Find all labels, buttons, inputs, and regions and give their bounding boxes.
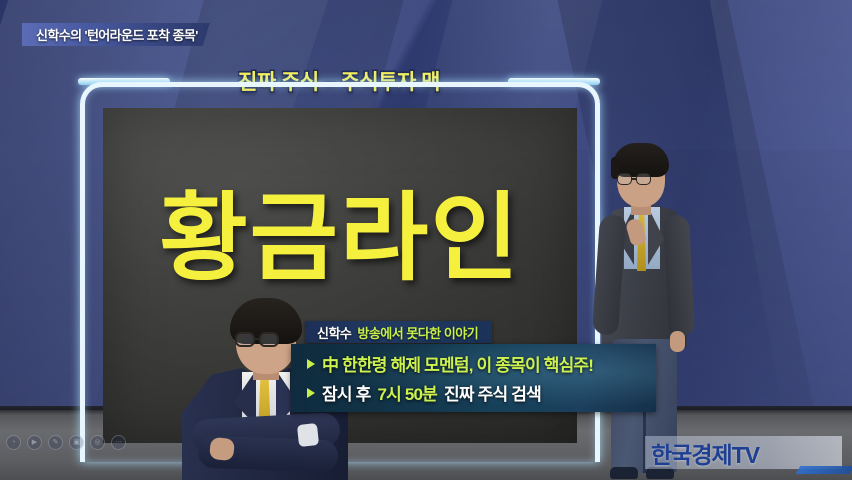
bullet-2-tail: 진짜 주식 검색 [444, 380, 541, 405]
lower-third-segment: 방송에서 못다한 이야기 [357, 323, 478, 342]
play-icon[interactable]: ▶ [27, 435, 42, 450]
host-standing [584, 143, 704, 480]
bullet-2-time: 7시 50분 [377, 380, 437, 405]
eyeglasses-icon [617, 173, 632, 185]
panel-toolbar[interactable]: ◔ ▶ ✎ ▣ ◎ ⋯ [6, 435, 126, 450]
program-banner-text: 신학수의 '턴어라운드 포착 종목' [36, 25, 198, 44]
station-logo: 한국경제TV [645, 436, 842, 469]
lower-third-header: 신학수 방송에서 못다한 이야기 [305, 321, 492, 343]
eyeglasses-bridge [255, 338, 259, 340]
host-hair [613, 143, 669, 177]
program-banner: 신학수의 '턴어라운드 포착 종목' [22, 23, 210, 46]
lower-third-bullet-1: 中 한한령 해제 모멘텀, 이 종목이 핵심주! [307, 349, 656, 378]
backdrop-facet [699, 0, 852, 460]
lower-third-bullet-2: 잠시 후 7시 50분 진짜 주식 검색 [307, 378, 656, 407]
more-icon[interactable]: ⋯ [111, 435, 126, 450]
screen-headline: 황금라인 [103, 160, 577, 299]
gauge-icon[interactable]: ◔ [6, 435, 21, 450]
record-icon[interactable]: ◎ [90, 435, 105, 450]
lower-third-body: 中 한한령 해제 모멘텀, 이 종목이 핵심주! 잠시 후 7시 50분 진짜 … [291, 344, 656, 412]
host-hand-lowered [670, 331, 685, 352]
bullet-triangle-icon [307, 388, 315, 398]
station-logo-text: 한국경제TV [651, 436, 759, 470]
eyeglasses-icon [259, 332, 279, 347]
bullet-2-lead: 잠시 후 [322, 380, 370, 405]
broadcast-frame: 신학수의 '턴어라운드 포착 종목' 진짜 주식 – 주식투자 맥 황금라인 ◔… [0, 0, 852, 480]
host-arm-right [663, 214, 695, 337]
bullet-triangle-icon [307, 359, 315, 369]
pen-icon[interactable]: ✎ [48, 435, 63, 450]
host-shoe-left [610, 467, 638, 479]
logo-accent-stripe [796, 466, 852, 474]
eyeglasses-bridge [632, 178, 637, 180]
camera-icon[interactable]: ▣ [69, 435, 84, 450]
analyst-cuff [297, 423, 319, 447]
analyst-hand [209, 437, 235, 461]
bullet-1-text: 中 한한령 해제 모멘텀, 이 종목이 핵심주! [322, 351, 593, 376]
eyeglasses-icon [636, 173, 651, 185]
eyeglasses-icon [235, 332, 255, 347]
lower-third-speaker: 신학수 [317, 323, 351, 342]
